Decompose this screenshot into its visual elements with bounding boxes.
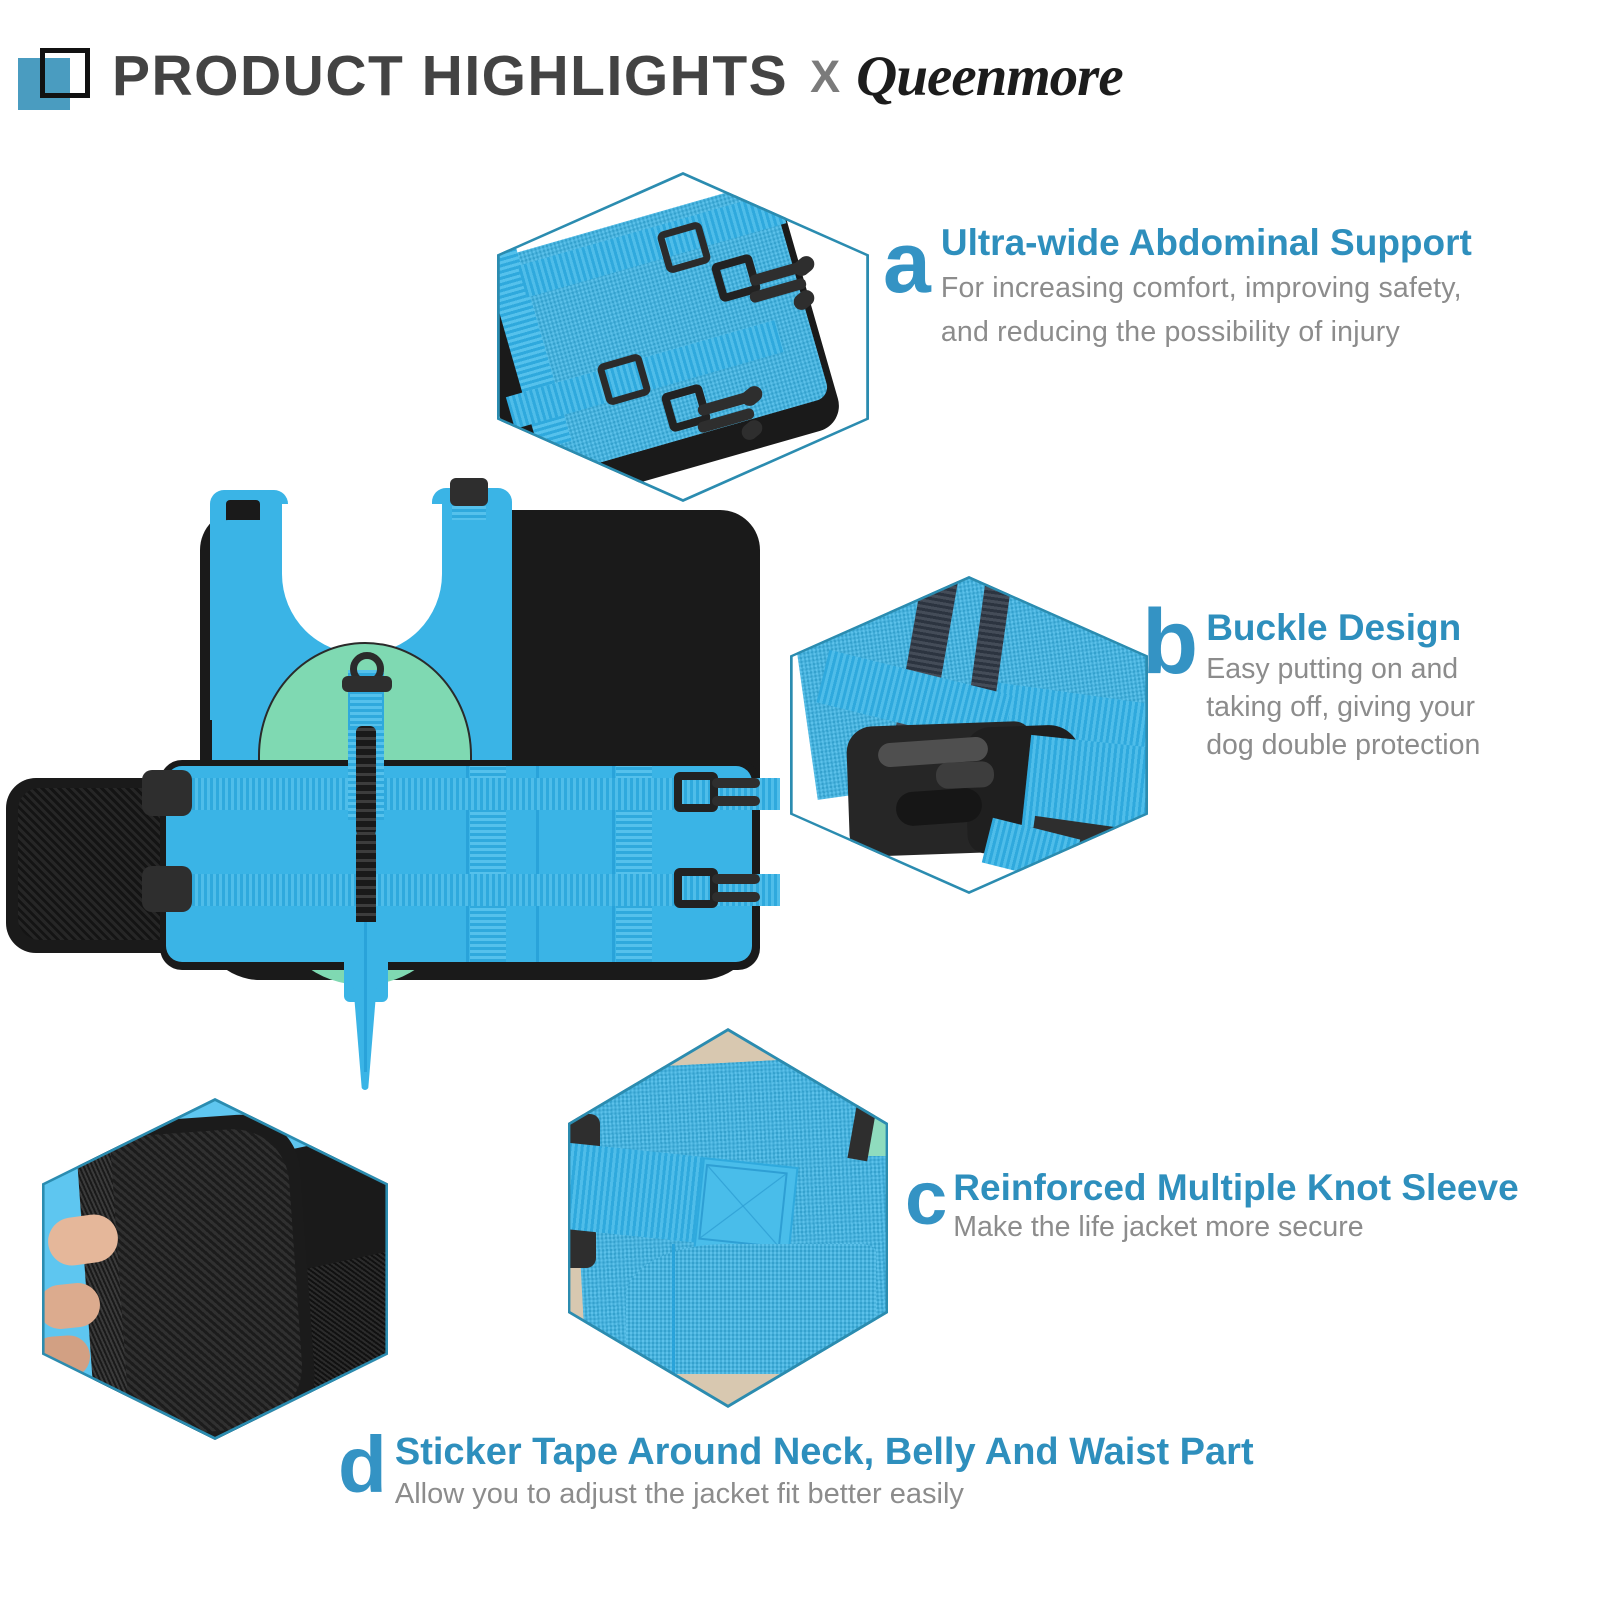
- main-product-photo: [0, 470, 800, 1090]
- feature-a-sub-line-1: For increasing comfort, improving safety…: [941, 270, 1472, 306]
- brand-wordmark: Queenmore: [856, 48, 1122, 105]
- feature-c-heading: Reinforced Multiple Knot Sleeve: [953, 1168, 1518, 1208]
- feature-a-sub-line-2: and reducing the possibility of injury: [941, 314, 1472, 350]
- feature-c-letter: c: [905, 1166, 947, 1233]
- feature-c-text: c Reinforced Multiple Knot Sleeve Make t…: [905, 1168, 1519, 1246]
- overlapping-squares-logo-icon: [18, 48, 80, 110]
- feature-c-photo-hexagon: [568, 1028, 888, 1408]
- feature-d-text: d Sticker Tape Around Neck, Belly And Wa…: [338, 1432, 1254, 1512]
- feature-c-photo: [568, 1028, 888, 1408]
- header-title-row: PRODUCT HIGHLIGHTS X Queenmore: [112, 36, 1123, 116]
- header-separator: X: [810, 54, 840, 99]
- feature-a-heading: Ultra-wide Abdominal Support: [941, 222, 1472, 263]
- feature-d-letter: d: [338, 1430, 387, 1500]
- feature-b-text: b Buckle Design Easy putting on and taki…: [1142, 608, 1480, 763]
- logo-outline-square: [40, 48, 90, 98]
- feature-a-letter: a: [883, 226, 931, 302]
- feature-a-photo-hexagon: [497, 172, 869, 502]
- feature-d-sub-line-1: Allow you to adjust the jacket fit bette…: [395, 1476, 1254, 1512]
- feature-d-photo-hexagon: [42, 1098, 388, 1440]
- feature-d-photo: [42, 1098, 388, 1440]
- page-title: PRODUCT HIGHLIGHTS: [112, 48, 788, 105]
- feature-b-photo-hexagon: [790, 576, 1148, 894]
- feature-b-sub-line-3: dog double protection: [1206, 727, 1480, 763]
- feature-b-heading: Buckle Design: [1206, 608, 1480, 649]
- page-header: PRODUCT HIGHLIGHTS X Queenmore: [0, 0, 1601, 150]
- feature-b-photo: [790, 576, 1148, 894]
- feature-a-photo: [497, 172, 869, 502]
- feature-b-sub-line-2: taking off, giving your: [1206, 689, 1480, 725]
- feature-c-sub-line-1: Make the life jacket more secure: [953, 1210, 1518, 1246]
- feature-d-heading: Sticker Tape Around Neck, Belly And Wais…: [395, 1432, 1254, 1474]
- feature-b-sub-line-1: Easy putting on and: [1206, 651, 1480, 687]
- feature-b-letter: b: [1142, 602, 1198, 683]
- feature-a-text: a Ultra-wide Abdominal Support For incre…: [883, 222, 1472, 350]
